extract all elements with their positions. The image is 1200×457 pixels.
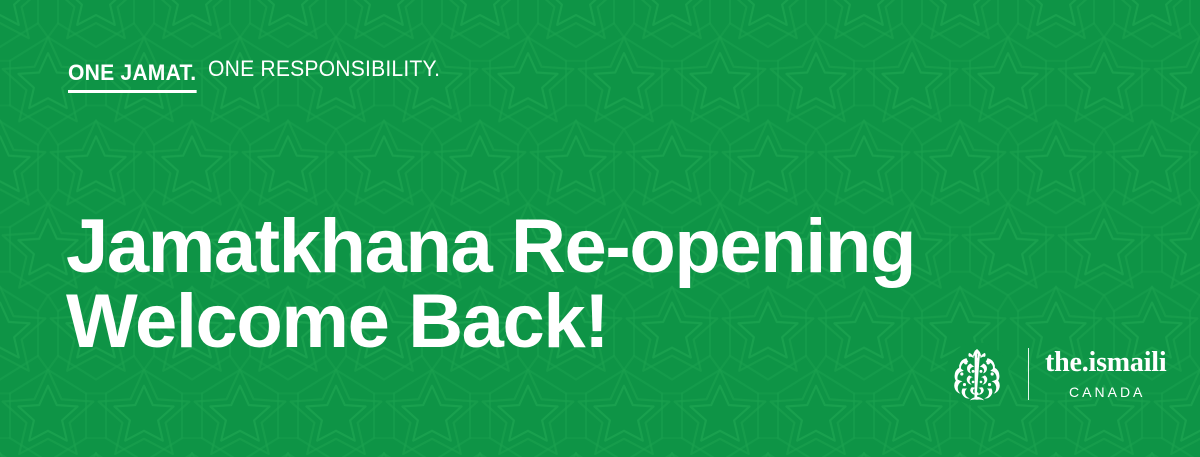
jamatkhana-reopening-banner: ONE JAMAT.ONE RESPONSIBILITY. Jamatkhana…	[0, 0, 1200, 457]
campaign-tagline: ONE JAMAT.ONE RESPONSIBILITY.	[68, 62, 449, 93]
headline-line-1: Jamatkhana Re-opening	[66, 209, 915, 284]
logo-text-block: the.ismaili CANADA	[1045, 349, 1166, 399]
tagline-one-jamat: ONE JAMAT.	[68, 62, 196, 93]
logo-divider	[1028, 348, 1029, 400]
logo-country-label: CANADA	[1066, 385, 1145, 399]
headline-line-2: Welcome Back!	[66, 284, 915, 359]
tagline-one-responsibility: ONE RESPONSIBILITY.	[208, 58, 440, 80]
banner-headline: Jamatkhana Re-opening Welcome Back!	[66, 209, 915, 359]
the-ismaili-canada-logo: the.ismaili CANADA	[944, 338, 1166, 410]
ismaili-floral-medallion-icon	[944, 341, 1010, 407]
logo-wordmark: the.ismaili	[1045, 349, 1166, 377]
